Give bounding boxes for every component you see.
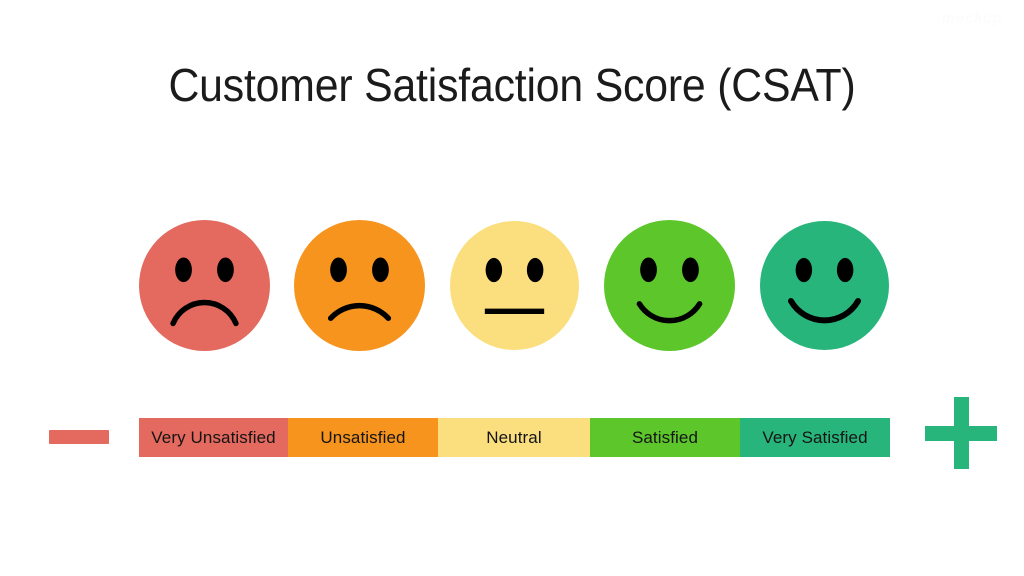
satisfaction-scale-bar[interactable]: Very UnsatisfiedUnsatisfiedNeutralSatisf… [139, 418, 890, 457]
very-unsatisfied-face[interactable] [139, 220, 270, 351]
plus-icon [925, 397, 997, 469]
scale-segment-very-satisfied[interactable]: Very Satisfied [740, 418, 890, 457]
right-eye [526, 257, 543, 281]
right-eye [836, 257, 853, 281]
scale-segment-very-unsatisfied[interactable]: Very Unsatisfied [139, 418, 288, 457]
right-eye [372, 257, 389, 282]
scale-segment-label: Very Unsatisfied [151, 428, 275, 448]
right-eye [217, 257, 234, 282]
page-title: Customer Satisfaction Score (CSAT) [36, 58, 988, 112]
csat-slide: mockup Customer Satisfaction Score (CSAT… [0, 0, 1024, 576]
left-eye [175, 257, 192, 282]
watermark: mockup [941, 10, 1002, 27]
scale-segment-label: Unsatisfied [320, 428, 405, 448]
left-eye [485, 257, 502, 281]
scale-segment-neutral[interactable]: Neutral [438, 418, 590, 457]
scale-segment-satisfied[interactable]: Satisfied [590, 418, 740, 457]
left-eye [330, 257, 347, 282]
left-eye [795, 257, 812, 281]
neutral-face[interactable] [450, 221, 579, 350]
plus-icon-vertical-bar [954, 397, 969, 469]
unsatisfied-face[interactable] [294, 220, 425, 351]
scale-segment-label: Neutral [486, 428, 542, 448]
minus-icon [49, 430, 109, 444]
scale-segment-unsatisfied[interactable]: Unsatisfied [288, 418, 438, 457]
satisfied-face[interactable] [604, 220, 735, 351]
face-rating-row [0, 218, 1024, 358]
left-eye [640, 257, 657, 282]
scale-segment-label: Satisfied [632, 428, 698, 448]
scale-segment-label: Very Satisfied [762, 428, 867, 448]
right-eye [682, 257, 699, 282]
very-satisfied-face[interactable] [760, 221, 889, 350]
